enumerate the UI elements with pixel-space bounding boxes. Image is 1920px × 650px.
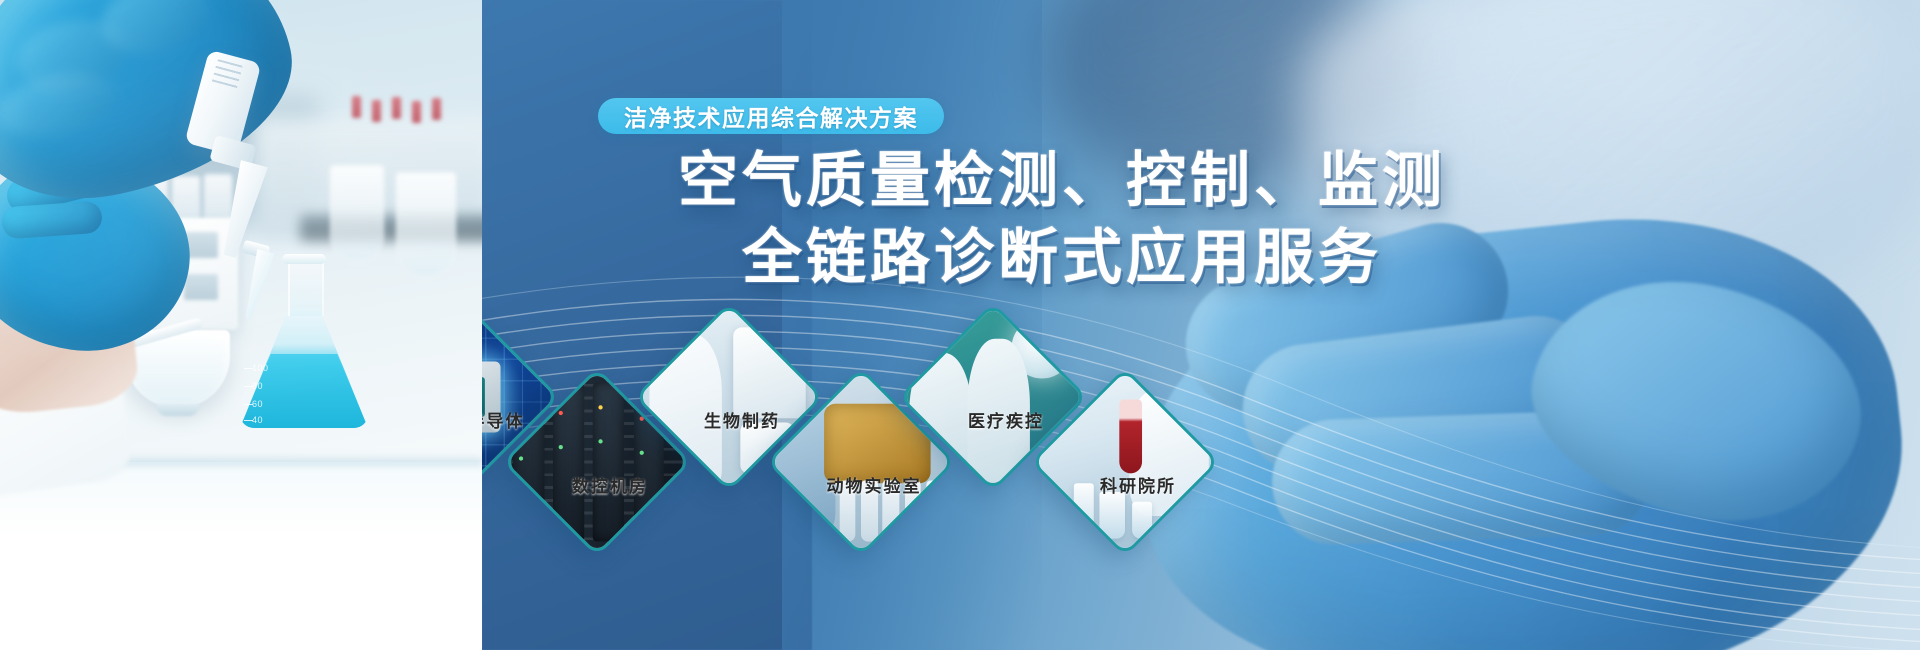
vial-icon [392, 97, 401, 119]
hero-banner: 100 80 60 40 [0, 0, 1920, 650]
lab-counter [0, 462, 482, 650]
vial-icon [412, 101, 421, 123]
flask-icon [396, 172, 456, 278]
vial-icon [372, 100, 381, 122]
flask-icon [330, 165, 384, 263]
vial-icon [432, 98, 441, 120]
vial-icon [352, 96, 361, 118]
industry-tiles: 电子半导体 [482, 0, 1920, 650]
hero-visual-panel: 洁净技术应用综合解决方案 空气质量检测、控制、监测 全链路诊断式应用服务 电子半… [482, 0, 1920, 650]
lab-photo-panel: 100 80 60 40 [0, 0, 482, 650]
mortar-bowl-foot [157, 404, 199, 416]
